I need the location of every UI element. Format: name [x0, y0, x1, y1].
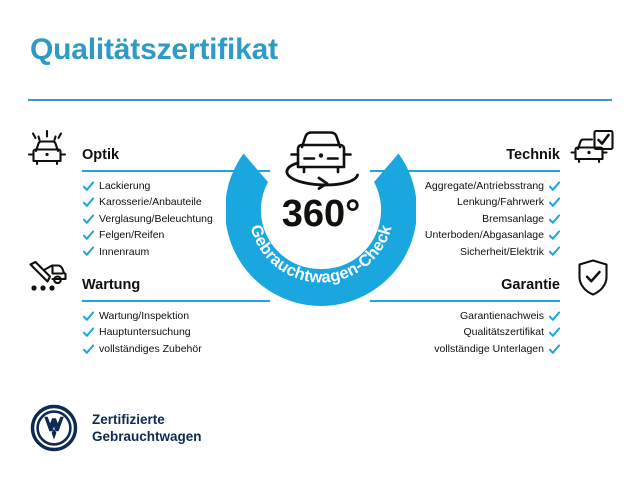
list-item-label: Hauptuntersuchung	[99, 324, 191, 340]
list-item-label: Verglasung/Beleuchtung	[99, 211, 213, 227]
shield-check-icon	[570, 258, 616, 298]
list-item: Garantienachweis	[401, 308, 560, 324]
car-checkbox-icon	[570, 128, 616, 168]
car-shine-icon	[24, 128, 70, 168]
vw-logo-icon	[30, 404, 78, 452]
check-icon	[549, 344, 560, 355]
list-item-label: Wartung/Inspektion	[99, 308, 189, 324]
list-item-label: Unterboden/Abgasanlage	[425, 227, 544, 243]
list-item: vollständige Unterlagen	[401, 341, 560, 357]
section-title: Technik	[506, 147, 560, 163]
section-technik: Technik Aggregate/Antriebsstrang Lenkung…	[401, 128, 616, 260]
list-item: Felgen/Reifen	[83, 227, 239, 243]
quality-certificate-page: Qualitätszertifikat Optik Lac	[0, 0, 640, 480]
list-item-label: Bremsanlage	[482, 211, 544, 227]
check-icon	[549, 246, 560, 257]
section-header: Wartung	[24, 258, 239, 302]
list-item: Verglasung/Beleuchtung	[83, 211, 239, 227]
check-icon	[83, 246, 94, 257]
check-icon	[83, 327, 94, 338]
section-title: Wartung	[82, 277, 140, 293]
list-item-label: vollständige Unterlagen	[434, 341, 544, 357]
checklist-optik: Lackierung Karosserie/Anbauteile Verglas…	[24, 172, 239, 260]
checklist-wartung: Wartung/Inspektion Hauptuntersuchung vol…	[24, 302, 239, 357]
badge-center-label: 360°	[282, 193, 361, 235]
section-wartung: Wartung Wartung/Inspektion Hauptuntersuc…	[24, 258, 239, 357]
list-item-label: vollständiges Zubehör	[99, 341, 202, 357]
footer-brand: Zertifizierte Gebrauchtwagen	[30, 404, 202, 452]
title-divider	[28, 99, 612, 101]
list-item: vollständiges Zubehör	[83, 341, 239, 357]
check-icon	[549, 197, 560, 208]
section-header: Technik	[401, 128, 616, 172]
section-header: Garantie	[401, 258, 616, 302]
check-icon	[83, 197, 94, 208]
list-item: Bremsanlage	[401, 211, 560, 227]
footer-line-2: Gebrauchtwagen	[92, 429, 202, 444]
list-item: Unterboden/Abgasanlage	[401, 227, 560, 243]
check-icon	[549, 327, 560, 338]
check-icon	[549, 214, 560, 225]
section-title: Optik	[82, 147, 119, 163]
check-icon	[83, 181, 94, 192]
list-item: Lackierung	[83, 178, 239, 194]
list-item: Lenkung/Fahrwerk	[401, 194, 560, 210]
list-item-label: Lenkung/Fahrwerk	[457, 194, 544, 210]
section-garantie: Garantie Garantienachweis Qualitätszerti…	[401, 258, 616, 357]
car-rotate-icon	[287, 133, 358, 189]
section-title: Garantie	[501, 277, 560, 293]
section-optik: Optik Lackierung Karosserie/Anbauteile V…	[24, 128, 239, 260]
check-icon	[83, 311, 94, 322]
badge-360-gebrauchtwagen-check: Gebrauchtwagen-Check 360°	[226, 114, 416, 306]
list-item: Wartung/Inspektion	[83, 308, 239, 324]
list-item: Hauptuntersuchung	[83, 324, 239, 340]
check-icon	[549, 230, 560, 241]
check-icon	[83, 214, 94, 225]
list-item-label: Felgen/Reifen	[99, 227, 164, 243]
list-item: Karosserie/Anbauteile	[83, 194, 239, 210]
check-icon	[83, 230, 94, 241]
list-item: Qualitätszertifikat	[401, 324, 560, 340]
list-item-label: Lackierung	[99, 178, 150, 194]
checklist-technik: Aggregate/Antriebsstrang Lenkung/Fahrwer…	[401, 172, 616, 260]
footer-line-1: Zertifizierte	[92, 412, 165, 427]
list-item-label: Karosserie/Anbauteile	[99, 194, 202, 210]
footer-text: Zertifizierte Gebrauchtwagen	[92, 411, 202, 445]
page-title: Qualitätszertifikat	[30, 33, 278, 67]
list-item-label: Qualitätszertifikat	[463, 324, 544, 340]
list-item-label: Aggregate/Antriebsstrang	[425, 178, 544, 194]
checklist-garantie: Garantienachweis Qualitätszertifikat vol…	[401, 302, 616, 357]
check-icon	[549, 311, 560, 322]
check-icon	[549, 181, 560, 192]
list-item-label: Garantienachweis	[460, 308, 544, 324]
car-service-pen-icon	[24, 258, 70, 298]
list-item: Aggregate/Antriebsstrang	[401, 178, 560, 194]
check-icon	[83, 344, 94, 355]
section-header: Optik	[24, 128, 239, 172]
